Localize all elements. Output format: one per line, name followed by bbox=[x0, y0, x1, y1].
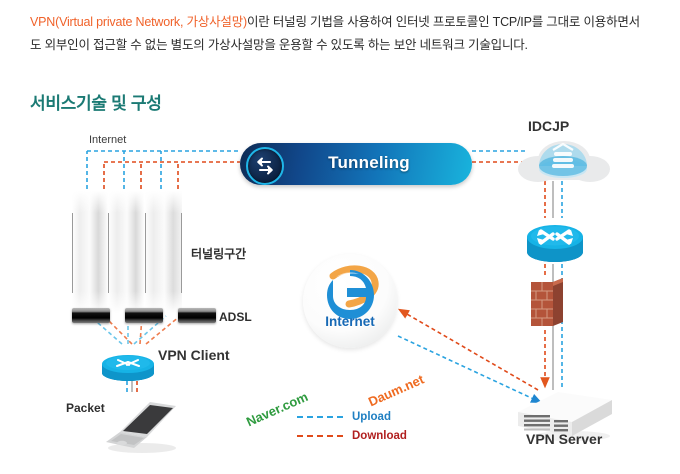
label-vpn-server: VPN Server bbox=[526, 431, 602, 447]
legend-item-download: Download bbox=[297, 426, 447, 445]
internet-globe: Internet bbox=[303, 254, 397, 348]
legend: Upload Download bbox=[297, 407, 447, 445]
vpn-client-router bbox=[100, 340, 156, 382]
legend-label-upload: Upload bbox=[352, 411, 391, 423]
adsl-modem bbox=[178, 308, 216, 323]
label-packet: Packet bbox=[66, 401, 105, 415]
legend-label-download: Download bbox=[352, 430, 407, 442]
idc-router bbox=[525, 214, 585, 266]
tunnel-tubes bbox=[72, 191, 182, 313]
label-internet-link: Internet bbox=[89, 134, 126, 146]
internet-explorer-icon bbox=[327, 269, 375, 319]
label-vpn-client: VPN Client bbox=[158, 347, 230, 363]
legend-item-upload: Upload bbox=[297, 407, 447, 426]
network-diagram: Tunneling bbox=[0, 118, 680, 474]
client-laptop bbox=[98, 396, 182, 454]
intro-paragraph: VPN(Virtual private Network, 가상사설망)이란 터널… bbox=[30, 11, 640, 57]
adsl-modem bbox=[125, 308, 163, 323]
internet-globe-label: Internet bbox=[303, 314, 397, 329]
tube-separator bbox=[72, 213, 73, 293]
label-tunnel-section: 터널링구간 bbox=[191, 245, 246, 262]
tube-separator bbox=[145, 213, 146, 293]
idcjp-cloud bbox=[512, 136, 612, 188]
page-title: 서비스기술 및 구성 bbox=[30, 89, 162, 114]
label-idcjp: IDCJP bbox=[528, 118, 569, 134]
tube-separator bbox=[108, 213, 109, 293]
tube-fade-top bbox=[72, 191, 182, 213]
intro-highlight: VPN(Virtual private Network, 가상사설망) bbox=[30, 15, 247, 29]
brick-firewall bbox=[531, 278, 565, 330]
tube-separator bbox=[181, 213, 182, 293]
legend-swatch-upload bbox=[297, 416, 343, 418]
adsl-modem bbox=[72, 308, 110, 323]
label-adsl: ADSL bbox=[219, 310, 252, 324]
tunneling-label: Tunneling bbox=[240, 153, 472, 173]
tunneling-banner: Tunneling bbox=[240, 143, 472, 185]
legend-swatch-download bbox=[297, 435, 343, 437]
